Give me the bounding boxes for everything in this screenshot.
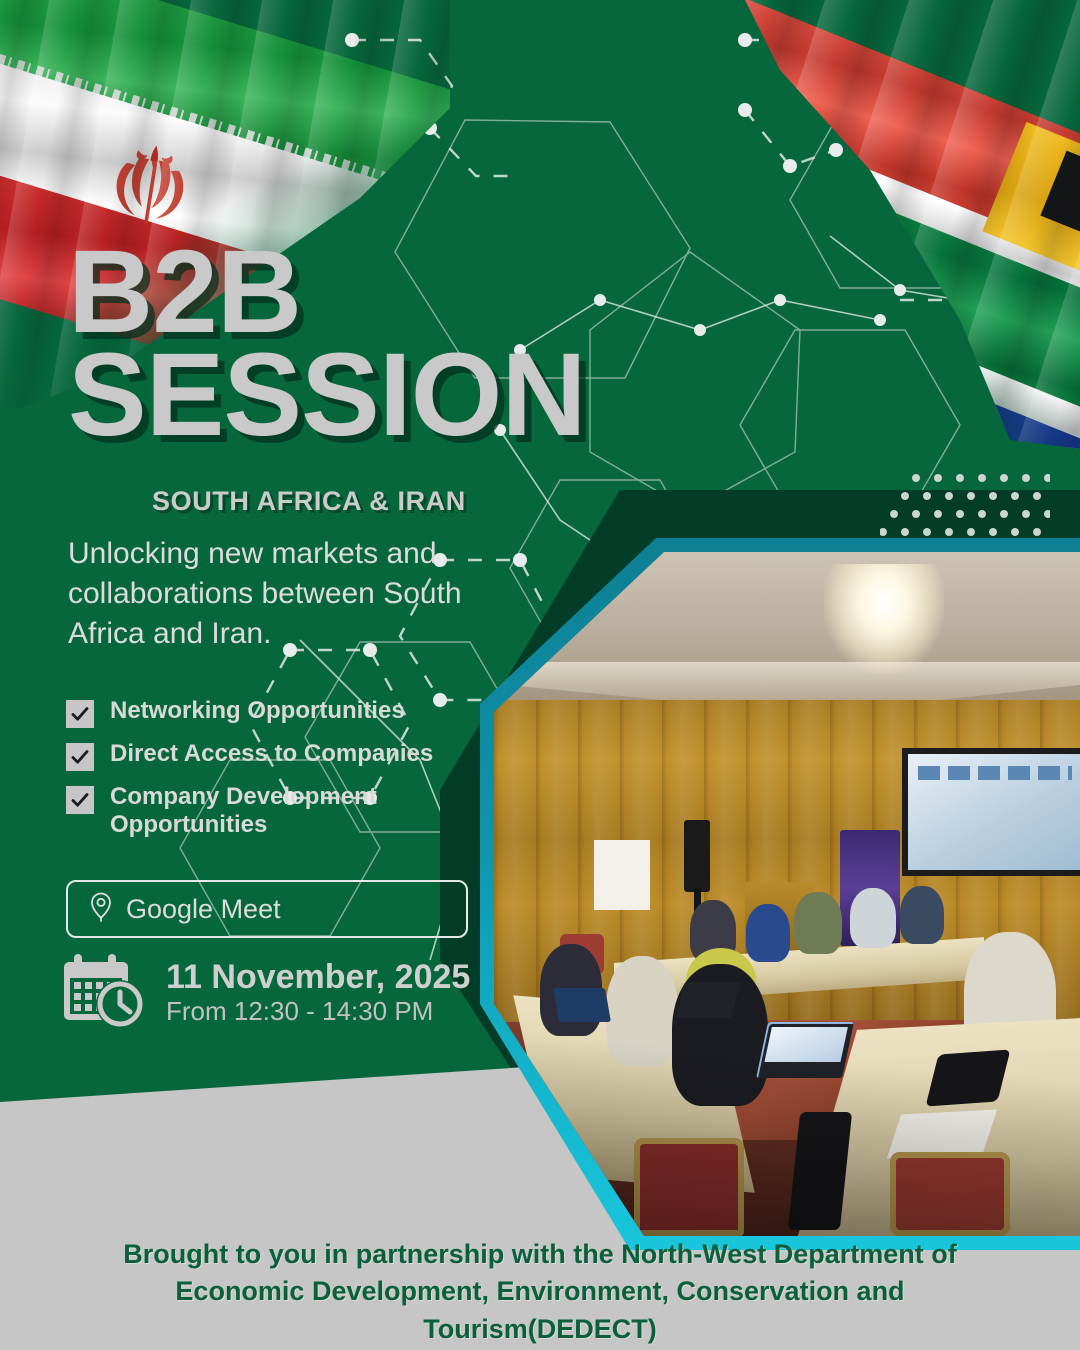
benefit-label: Networking Opportunities <box>110 697 405 725</box>
location-pin-icon <box>88 891 114 928</box>
list-item: Networking Opportunities <box>66 697 496 728</box>
datetime-block: 11 November, 2025 From 12:30 - 14:30 PM <box>62 952 470 1033</box>
title-line-2: SESSION <box>68 341 586 450</box>
poster: B2B SESSION SOUTH AFRICA & IRAN Unlockin… <box>0 0 1080 1350</box>
content-layer: B2B SESSION SOUTH AFRICA & IRAN Unlockin… <box>0 0 1080 1350</box>
list-item: Company Development Opportunities <box>66 783 496 840</box>
event-date: 11 November, 2025 <box>166 958 470 996</box>
list-item: Direct Access to Companies <box>66 740 496 771</box>
venue-label: Google Meet <box>126 894 281 925</box>
title-subtitle: SOUTH AFRICA & IRAN <box>152 486 466 517</box>
benefit-label: Company Development Opportunities <box>110 783 496 840</box>
venue-badge[interactable]: Google Meet <box>66 880 468 938</box>
partnership-footer: Brought to you in partnership with the N… <box>80 1236 1000 1348</box>
benefits-list: Networking Opportunities Direct Access t… <box>66 697 496 852</box>
checkmark-icon <box>66 786 94 814</box>
calendar-clock-icon <box>62 952 148 1033</box>
lede-text: Unlocking new markets and collaborations… <box>68 534 508 654</box>
checkmark-icon <box>66 700 94 728</box>
benefit-label: Direct Access to Companies <box>110 740 433 768</box>
title-block: B2B SESSION <box>68 238 586 449</box>
checkmark-icon <box>66 743 94 771</box>
event-time: From 12:30 - 14:30 PM <box>166 996 470 1027</box>
